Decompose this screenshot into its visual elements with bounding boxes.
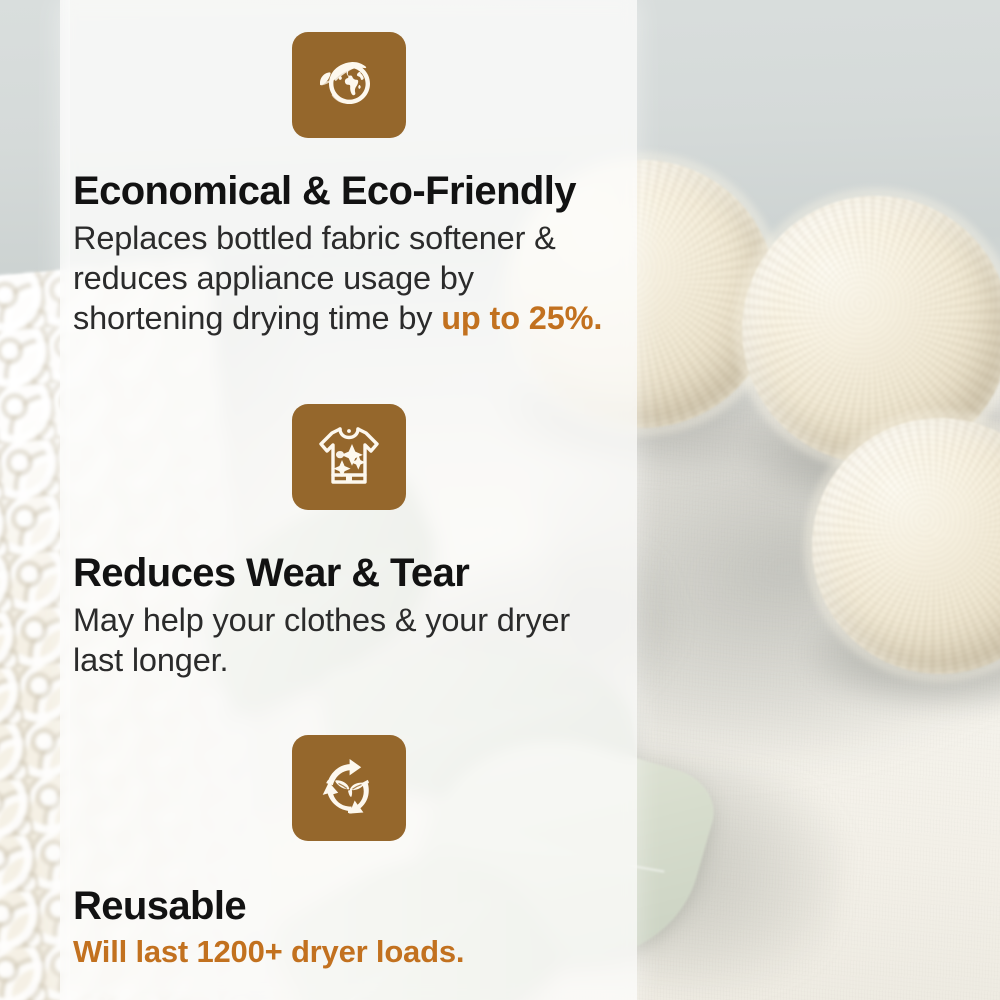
globe-leaf-icon <box>314 52 384 118</box>
feature-title: Economical & Eco-Friendly <box>73 170 623 212</box>
feature-description: Will last 1200+ dryer loads. <box>73 932 613 972</box>
feature-title: Reusable <box>73 885 623 927</box>
globe-leaf-icon-badge <box>292 32 406 138</box>
tshirt-sparkle-icon-badge <box>292 404 406 510</box>
feature-description: May help your clothes & your dryer last … <box>73 600 613 680</box>
feature-text: Reduces Wear & Tear May help your clothe… <box>60 552 637 680</box>
feature-text: Economical & Eco-Friendly Replaces bottl… <box>60 170 637 338</box>
feature-block-eco-friendly: Economical & Eco-Friendly Replaces bottl… <box>60 0 637 338</box>
recycle-leaf-icon-badge <box>292 735 406 841</box>
feature-description-accent: up to 25%. <box>441 300 602 336</box>
feature-description: Replaces bottled fabric softener & reduc… <box>73 218 613 338</box>
recycle-leaf-icon <box>314 753 384 823</box>
infographic-root: Economical & Eco-Friendly Replaces bottl… <box>0 0 1000 1000</box>
wool-dryer-ball <box>812 418 1000 674</box>
feature-title: Reduces Wear & Tear <box>73 552 623 594</box>
feature-block-reduces-wear: Reduces Wear & Tear May help your clothe… <box>60 368 637 680</box>
feature-text: Reusable Will last 1200+ dryer loads. <box>60 885 637 972</box>
tshirt-sparkle-icon <box>314 422 384 492</box>
feature-block-reusable: Reusable Will last 1200+ dryer loads. <box>60 703 637 972</box>
